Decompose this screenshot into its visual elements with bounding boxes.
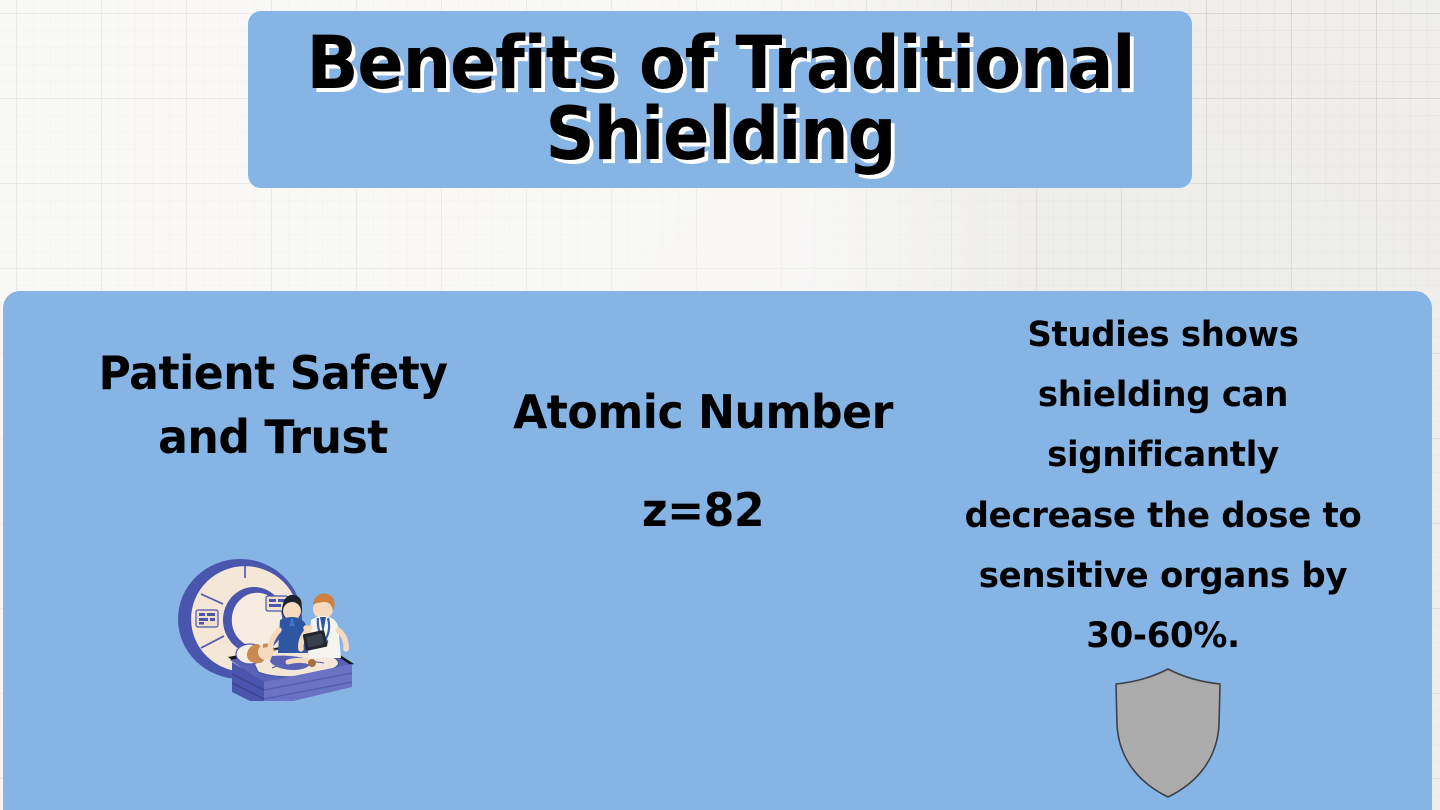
atomic-number-value: z=82 — [511, 487, 895, 533]
content-panel: Patient Safety and Trust — [3, 291, 1432, 810]
patient-safety-heading: Patient Safety and Trust — [57, 341, 489, 470]
column-atomic-number: Atomic Number z=82 — [503, 389, 903, 589]
title-banner: Benefits of Traditional Shielding — [248, 11, 1192, 188]
page-title: Benefits of Traditional Shielding — [297, 29, 1144, 171]
slide-canvas: Benefits of Traditional Shielding Patien… — [0, 0, 1440, 810]
studies-statistic-text: Studies shows shielding can significantl… — [964, 305, 1362, 666]
atomic-number-label: Atomic Number — [511, 389, 895, 435]
column-patient-safety: Patient Safety and Trust — [48, 341, 498, 781]
shield-icon — [1113, 667, 1223, 799]
column-studies-statistic: Studies shows shielding can significantl… — [958, 305, 1368, 805]
ct-scanner-illustration — [168, 556, 358, 701]
